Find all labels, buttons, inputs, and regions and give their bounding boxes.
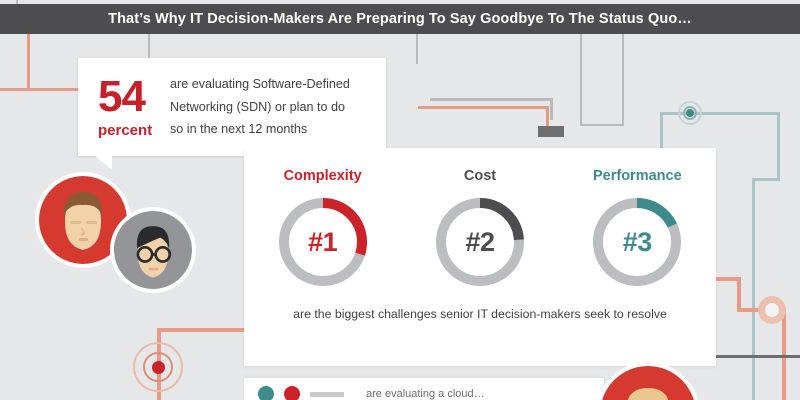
donut-chart-cost: #2 [432,194,528,290]
donut-performance: Performance #3 [567,168,707,290]
trace-salmon-right-v1 [737,277,741,311]
connector-chip [538,126,564,137]
trace-gray-top-3 [416,34,418,64]
trace-salmon-right-v2 [782,308,786,400]
ranking-caption: are the biggest challenges senior IT dec… [244,307,716,321]
donut-label-cost: Cost [464,168,496,184]
stat-unit-label: percent [98,122,170,139]
ranking-card: Complexity #1 Cost #2 [244,148,716,366]
header-banner: That’s Why IT Decision-Makers Are Prepar… [0,4,800,34]
bottom-card: are evaluating a cloud… [244,378,604,400]
stat-number: 54 [98,75,170,118]
donut-rank-performance: #3 [589,194,685,290]
avatar-man-glasses-gray [110,207,196,293]
bottom-bar [310,392,344,397]
stat-card: 54 percent are evaluating Software-Defin… [78,58,386,156]
trace-gray-top-2 [148,34,150,60]
trace-teal-right-vertical-2 [777,112,780,180]
donut-row: Complexity #1 Cost #2 [244,148,716,290]
trace-salmon-topleft-vertical [27,34,30,89]
donut-chart-complexity: #1 [275,194,371,290]
avatar-man-glasses-graphic [114,211,192,289]
trace-dark-right-horizontal [716,355,800,358]
avatar-woman-red [596,362,700,400]
avatar-woman-red-graphic [600,366,696,400]
bottom-card-text: are evaluating a cloud… [366,388,485,400]
donut-complexity: Complexity #1 [253,168,393,290]
stat-description: are evaluating Software-Defined Networki… [170,73,364,140]
donut-rank-cost: #2 [432,194,528,290]
stat-description-line-3: so in the next 12 months [170,118,350,140]
stat-description-line-2: Networking (SDN) or plan to do [170,96,350,118]
trace-gray-top-5 [580,124,624,126]
trace-teal-right-horizontal-2 [752,178,780,181]
donut-cost: Cost #2 [410,168,550,290]
donut-label-performance: Performance [593,168,682,184]
donut-label-complexity: Complexity [284,168,362,184]
bottom-dot-red [284,386,300,400]
circuit-node-salmon-center [765,303,779,317]
donut-chart-performance: #3 [589,194,685,290]
trace-teal-right-vertical-1 [660,112,663,148]
page-title: That’s Why IT Decision-Makers Are Prepar… [108,11,692,27]
trace-gray-center-vertical [550,98,553,120]
bottom-card-row: are evaluating a cloud… [244,378,604,400]
circuit-node-red [152,361,165,374]
trace-teal-right-vertical-3 [752,178,755,400]
circuit-node-teal [686,109,694,117]
stat-description-line-1: are evaluating Software-Defined [170,73,350,95]
infographic-canvas: That’s Why IT Decision-Makers Are Prepar… [0,0,800,400]
stat-card-tail [94,155,112,170]
bottom-dot-teal [258,386,274,400]
trace-salmon-center-horizontal [418,106,548,109]
stat-number-block: 54 percent [78,75,170,138]
donut-rank-complexity: #1 [275,194,371,290]
trace-gray-center-horizontal [430,98,552,101]
trace-gray-top-4 [580,34,582,126]
trace-gray-top-6 [622,34,624,126]
